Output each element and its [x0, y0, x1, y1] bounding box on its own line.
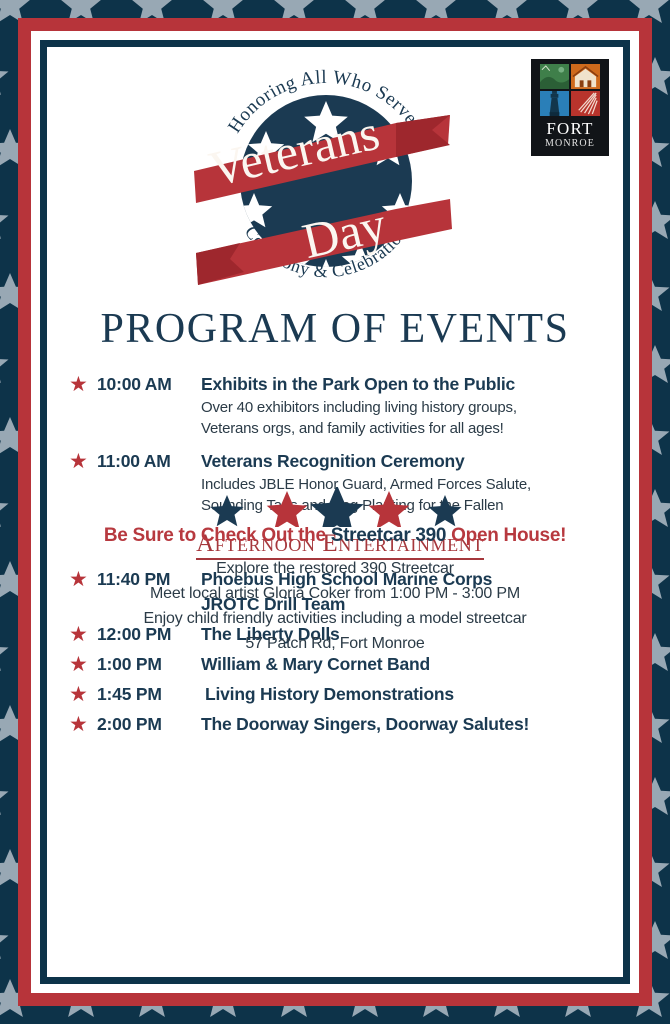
- star-bullet-icon: ★: [69, 372, 97, 397]
- schedule-row: ★ 1:45 PM Living History Demonstrations: [69, 682, 611, 707]
- event-description-line: Veterans orgs, and family activities for…: [201, 418, 611, 439]
- poster-content: FORT MONROE: [47, 47, 623, 977]
- schedule-row: ★ 10:00 AM Exhibits in the Park Open to …: [69, 372, 611, 439]
- footer-detail-line: Meet local artist Gloria Coker from 1:00…: [47, 581, 623, 606]
- divider-star-3: [310, 487, 363, 527]
- star-bullet-icon: ★: [69, 682, 97, 707]
- building-tile-icon: [571, 64, 600, 89]
- schedule-row: ★ 2:00 PM The Doorway Singers, Doorway S…: [69, 712, 611, 737]
- fireworks-tile-icon: [571, 91, 600, 116]
- logo-fort-text: FORT: [535, 119, 605, 138]
- star-bullet-icon: ★: [69, 712, 97, 737]
- divider-star-5: [428, 495, 461, 526]
- logo-tile-grid: [540, 64, 600, 116]
- star-divider: [47, 487, 623, 527]
- footer-address-line: 57 Patch Rd, Fort Monroe: [47, 631, 623, 656]
- event-time: 11:00 AM: [97, 449, 201, 474]
- streetcar-headline-navy: Streetcar 390: [331, 525, 446, 546]
- streetcar-headline: Be Sure to Check Out the Streetcar 390 O…: [47, 525, 623, 547]
- event-title: Exhibits in the Park Open to the Public: [201, 372, 611, 397]
- fort-monroe-logo: FORT MONROE: [531, 59, 609, 156]
- streetcar-headline-part1: Be Sure to Check Out the: [104, 525, 331, 546]
- footer-detail-line: Enjoy child friendly activities includin…: [47, 606, 623, 631]
- event-time: 1:45 PM: [97, 682, 201, 707]
- event-time: 2:00 PM: [97, 712, 201, 737]
- footer-block: Be Sure to Check Out the Streetcar 390 O…: [47, 525, 623, 656]
- streetcar-headline-part2: Open House!: [446, 525, 566, 546]
- star-bullet-icon: ★: [69, 449, 97, 474]
- footer-detail-line: Explore the restored 390 Streetcar: [47, 556, 623, 581]
- event-time: 10:00 AM: [97, 372, 201, 397]
- divider-star-4: [369, 491, 410, 527]
- event-title: Veterans Recognition Ceremony: [201, 449, 611, 474]
- veterans-day-seal: Honoring All Who Served Ceremony & Celeb…: [200, 53, 452, 305]
- event-title: Living History Demonstrations: [201, 682, 611, 707]
- event-description-line: Over 40 exhibitors including living hist…: [201, 397, 611, 418]
- landscape-tile-icon: [540, 64, 569, 89]
- lighthouse-tile-icon: [540, 91, 569, 116]
- veterans-day-poster: FORT MONROE: [0, 0, 670, 1024]
- logo-monroe-text: MONROE: [535, 138, 605, 150]
- event-title: The Doorway Singers, Doorway Salutes!: [201, 712, 611, 737]
- divider-star-1: [210, 495, 243, 526]
- page-title: PROGRAM OF EVENTS: [47, 305, 623, 353]
- divider-star-2: [267, 491, 308, 527]
